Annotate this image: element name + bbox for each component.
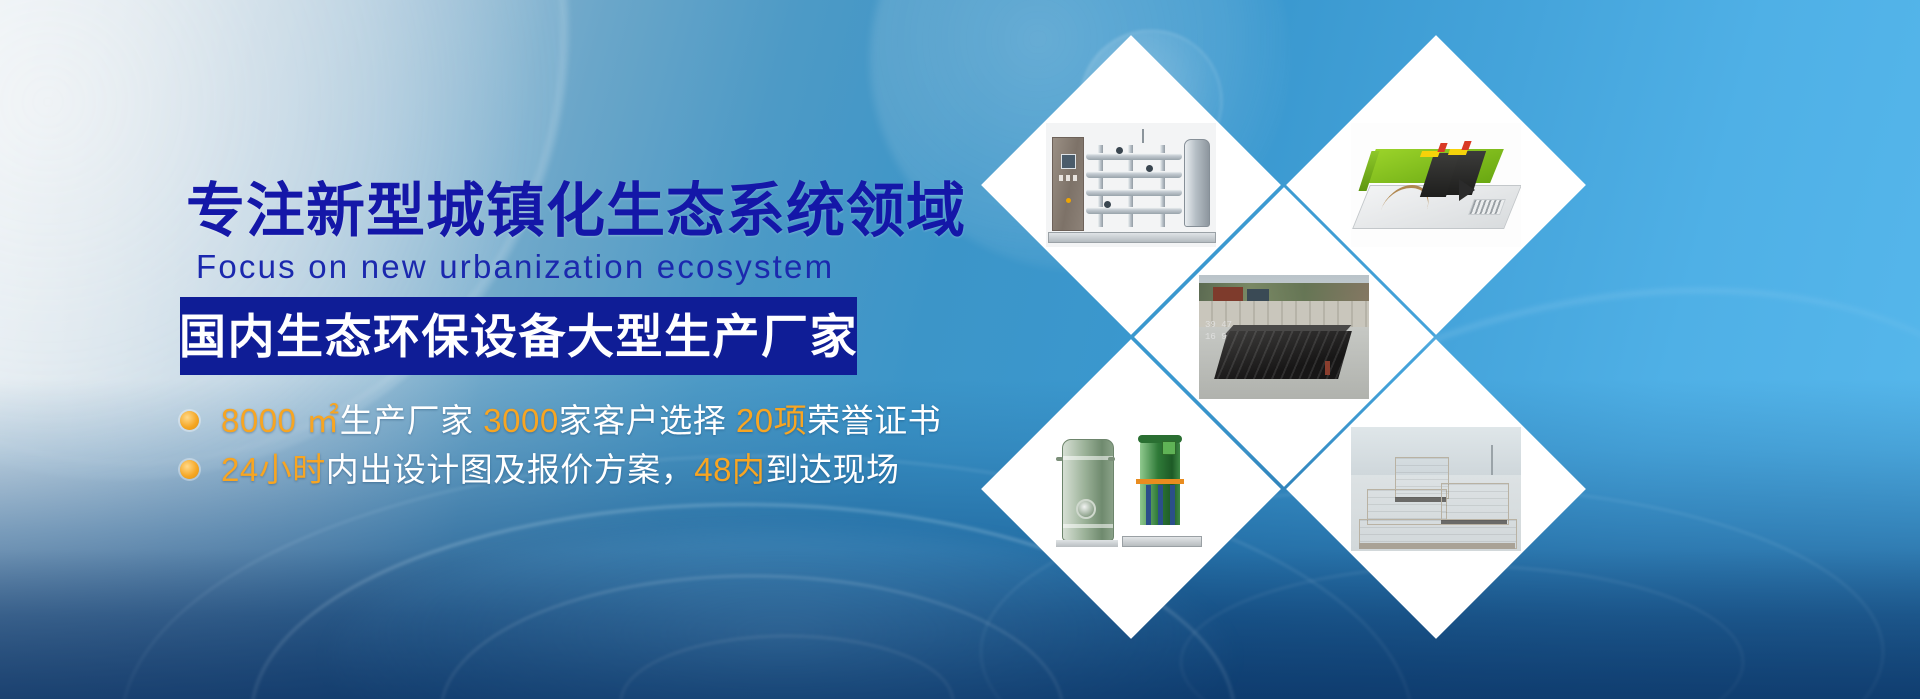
photo-aac-block-stack xyxy=(1330,383,1542,595)
artwork-aac-blocks xyxy=(1351,427,1521,551)
headline-copy-block: 专注新型城镇化生态系统领域 Focus on new urbanization … xyxy=(0,0,900,699)
promo-banner: 39 4716 9 xyxy=(0,0,1920,699)
accent-text: 8000 ㎡ xyxy=(221,402,340,439)
photo-green-sorting-machine xyxy=(1330,79,1542,291)
accent-text: 48内 xyxy=(694,451,765,488)
plain-text: 到达现场 xyxy=(765,451,899,488)
accent-text: 20项 xyxy=(736,402,807,439)
plain-text: 生产厂家 xyxy=(340,402,484,439)
plain-text: 荣誉证书 xyxy=(807,402,941,439)
artwork-green-machine xyxy=(1351,123,1521,247)
feature-bullet-text: 8000 ㎡生产厂家 3000家客户选择 20项荣誉证书 xyxy=(221,404,941,437)
bullet-dot-icon xyxy=(180,460,199,479)
artwork-ro-skid xyxy=(1046,123,1216,247)
artwork-mbr-tank: 39 4716 9 xyxy=(1199,275,1369,399)
plain-text: 家客户选择 xyxy=(559,402,736,439)
photo-frp-tank-pump-station xyxy=(1025,383,1237,595)
accent-text: 24小时 xyxy=(221,451,326,488)
highlight-box-text: 国内生态环保设备大型生产厂家 xyxy=(179,313,858,360)
accent-text: 3000 xyxy=(483,402,558,439)
headline-chinese: 专注新型城镇化生态系统领域 xyxy=(186,182,966,241)
headline-english: Focus on new urbanization ecosystem xyxy=(196,250,834,283)
highlight-box: 国内生态环保设备大型生产厂家 xyxy=(180,297,857,375)
photo-mbr-black-tank: 39 4716 9 xyxy=(1178,231,1390,443)
feature-bullet-row: 24小时内出设计图及报价方案，48内到达现场 xyxy=(180,453,899,486)
feature-bullet-text: 24小时内出设计图及报价方案，48内到达现场 xyxy=(221,453,899,486)
artwork-frp-pump xyxy=(1046,427,1216,551)
plain-text: 内出设计图及报价方案， xyxy=(326,451,695,488)
bullet-dot-icon xyxy=(180,411,199,430)
photo-ro-water-treatment-skid xyxy=(1025,79,1237,291)
feature-bullet-row: 8000 ㎡生产厂家 3000家客户选择 20项荣誉证书 xyxy=(180,404,941,437)
